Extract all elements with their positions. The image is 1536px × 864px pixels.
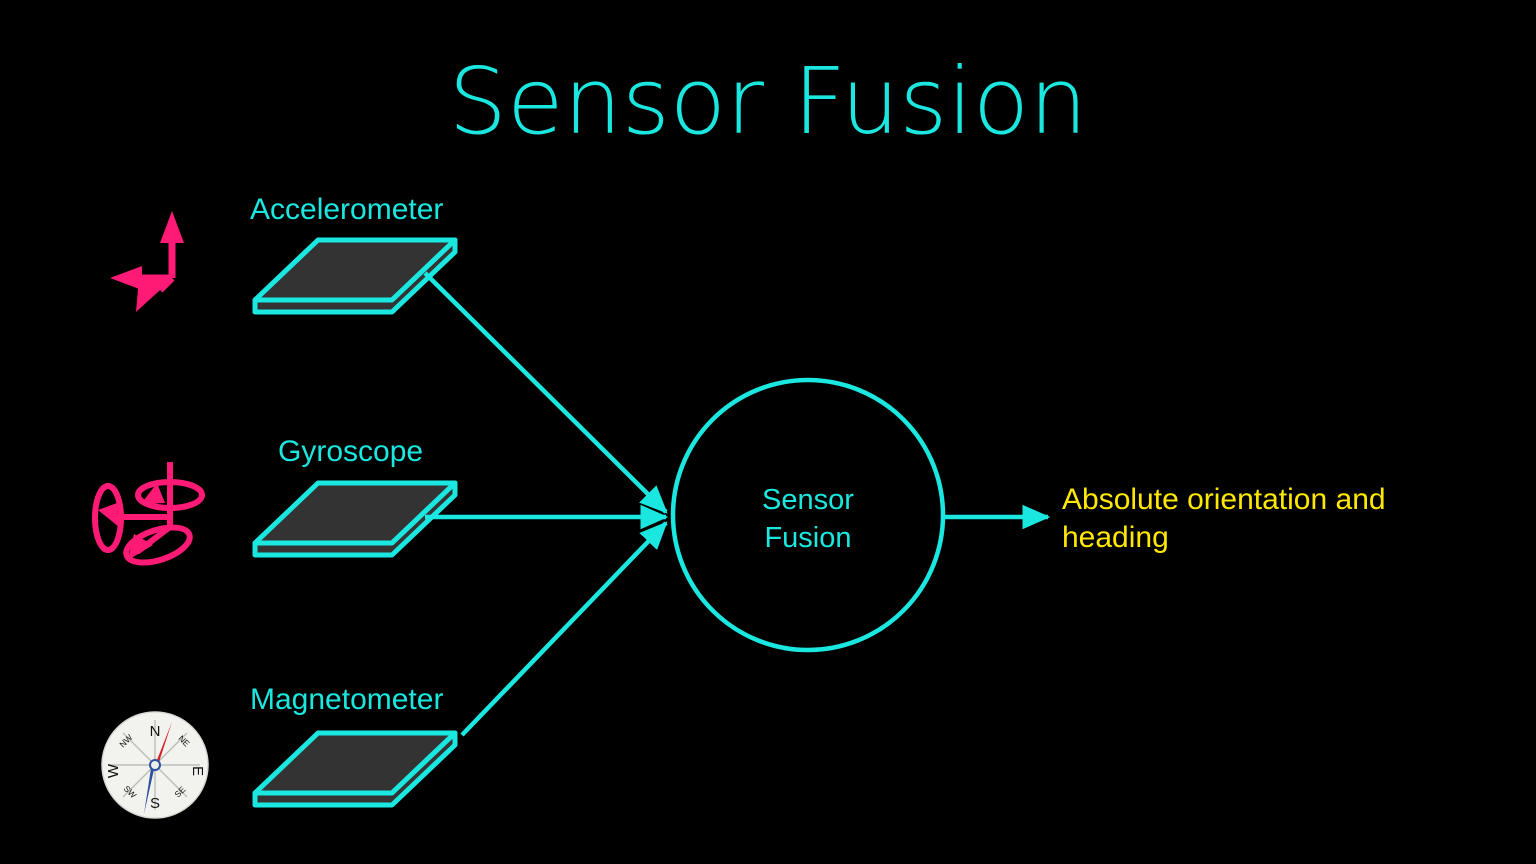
- compass-label-s: S: [150, 795, 160, 812]
- compass-label-n: N: [150, 723, 161, 740]
- sensor-fusion-diagram: [0, 0, 1536, 864]
- compass-label-w: W: [105, 763, 122, 778]
- hub-label: Sensor Fusion: [688, 481, 928, 557]
- rotation-axes-icon: [95, 462, 202, 569]
- sensor-label-gyroscope: Gyroscope: [278, 435, 423, 469]
- output-label-line2: heading: [1062, 519, 1462, 557]
- sensor-label-accelerometer: Accelerometer: [250, 193, 443, 227]
- output-label: Absolute orientation and heading: [1062, 481, 1462, 557]
- magnetometer-chip-icon: [255, 733, 455, 805]
- hub-label-line1: Sensor: [688, 481, 928, 519]
- three-axis-arrows-icon: [110, 211, 184, 312]
- hub-label-line2: Fusion: [688, 519, 928, 557]
- compass-icon: N S W E NW NE SW SE: [100, 710, 210, 820]
- output-label-line1: Absolute orientation and: [1062, 481, 1462, 519]
- slide-canvas: Sensor Fusion: [0, 0, 1536, 864]
- connector-accelerometer-to-hub: [425, 273, 666, 512]
- compass-label-e: E: [189, 766, 206, 776]
- sensor-label-magnetometer: Magnetometer: [250, 683, 443, 717]
- connector-magnetometer-to-hub: [462, 523, 666, 735]
